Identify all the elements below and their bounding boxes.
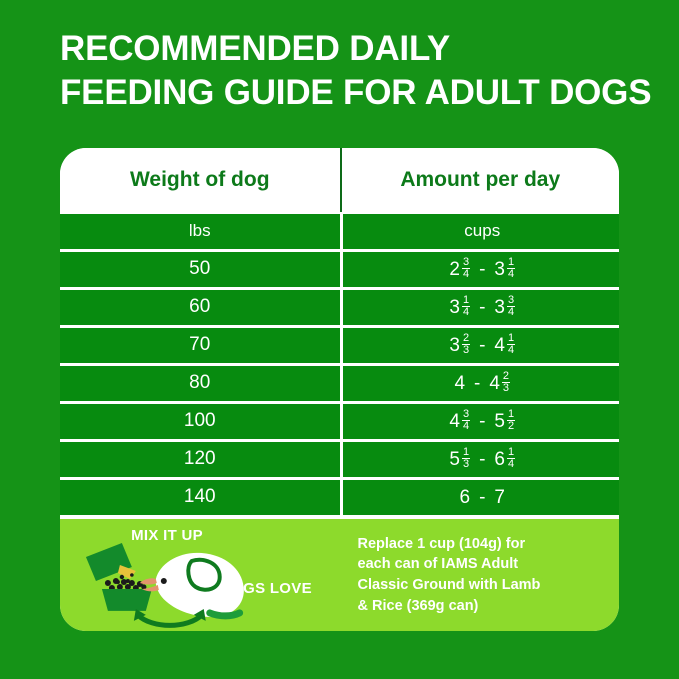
amount-cell: 3 1 4 - 3 3 4: [343, 290, 620, 325]
page-title: RECOMMENDED DAILY FEEDING GUIDE FOR ADUL…: [60, 27, 670, 116]
weight-cell: 50: [60, 252, 340, 287]
mix-arrows-icon: [138, 615, 202, 625]
amount-cell: 3 2 3 - 4 1 4: [343, 328, 620, 363]
unit-cell-amount: cups: [343, 214, 620, 249]
mix-it-up-line-1: MIX IT: [131, 527, 177, 544]
amount-high-fraction: 1 4: [507, 447, 515, 470]
amount-low-whole: 6: [460, 488, 471, 507]
footer-section: MIX IT UP DOGS LOVE IT Replace 1 cup (10…: [60, 516, 619, 631]
range-dash: -: [474, 412, 490, 431]
amount-high-fraction: 1 2: [507, 409, 515, 432]
weight-cell: 70: [60, 328, 340, 363]
amount-high-fraction: 2 3: [502, 371, 510, 394]
table-header-amount: Amount per day: [340, 148, 620, 212]
range-dash: -: [474, 260, 490, 279]
weight-cell: 140: [60, 480, 340, 515]
weight-cell: 80: [60, 366, 340, 401]
replace-note-line-3: Classic Ground with Lamb: [358, 575, 541, 596]
range-dash: -: [474, 488, 490, 507]
replace-note-line-2: each can of IAMS Adult: [358, 554, 541, 575]
dogs-love-it-label: DOGS LOVE IT: [220, 581, 330, 615]
amount-low-whole: 3: [449, 336, 460, 355]
amount-cell: 5 1 3 - 6 1 4: [343, 442, 620, 477]
amount-low-whole: 5: [449, 450, 460, 469]
amount-high-whole: 3: [494, 260, 505, 279]
feeding-table-panel: Weight of dog Amount per day lbs cups 50…: [60, 148, 619, 631]
table-row: 80 4 - 4 2 3: [60, 364, 619, 402]
unit-cell-weight: lbs: [60, 214, 340, 249]
amount-low-fraction: 1 3: [462, 447, 470, 470]
dogs-love-it-line-1: DOGS: [220, 580, 265, 597]
amount-low-fraction: 3 4: [462, 409, 470, 432]
table-row: 50 2 3 4 - 3: [60, 250, 619, 288]
range-dash: -: [474, 450, 490, 469]
mix-it-up-label: MIX IT UP: [124, 528, 210, 545]
footer-note-container: Replace 1 cup (104g) for each can of IAM…: [340, 519, 620, 631]
table-row: 120 5 1 3 - 6: [60, 440, 619, 478]
amount-high-fraction: 3 4: [507, 295, 515, 318]
replace-note: Replace 1 cup (104g) for each can of IAM…: [358, 534, 541, 616]
mix-it-up-graphic-container: MIX IT UP DOGS LOVE IT: [60, 519, 340, 631]
amount-high-whole: 3: [494, 298, 505, 317]
weight-cell: 100: [60, 404, 340, 439]
amount-cell: 4 3 4 - 5 1 2: [343, 404, 620, 439]
wet-pouch-icon: [86, 543, 136, 581]
range-dash: -: [469, 374, 485, 393]
amount-cell: 2 3 4 - 3 1 4: [343, 252, 620, 287]
amount-low-fraction: 1 4: [462, 295, 470, 318]
replace-note-line-4: & Rice (369g can): [358, 596, 541, 617]
weight-cell: 60: [60, 290, 340, 325]
amount-high-whole: 7: [494, 488, 505, 507]
table-body: lbs cups 50 2 3 4 -: [60, 212, 619, 516]
range-dash: -: [474, 336, 490, 355]
weight-cell: 120: [60, 442, 340, 477]
table-row: lbs cups: [60, 212, 619, 250]
table-row: 140 6 - 7: [60, 478, 619, 516]
amount-low-whole: 2: [449, 260, 460, 279]
amount-high-fraction: 1 4: [507, 257, 515, 280]
amount-low-whole: 4: [449, 412, 460, 431]
table-header-row: Weight of dog Amount per day: [60, 148, 619, 212]
page-title-line-2: FEEDING GUIDE FOR ADULT DOGS: [60, 71, 670, 115]
amount-high-whole: 6: [494, 450, 505, 469]
feeding-guide-page: RECOMMENDED DAILY FEEDING GUIDE FOR ADUL…: [0, 0, 679, 679]
table-row: 70 3 2 3 - 4: [60, 326, 619, 364]
replace-note-line-1: Replace 1 cup (104g) for: [358, 534, 541, 555]
amount-cell: 6 - 7: [343, 480, 620, 515]
amount-high-whole: 4: [489, 374, 500, 393]
amount-low-whole: 4: [454, 374, 465, 393]
table-row: 100 4 3 4 - 5: [60, 402, 619, 440]
amount-low-fraction: 3 4: [462, 257, 470, 280]
table-header-weight: Weight of dog: [60, 148, 340, 212]
amount-low-fraction: 2 3: [462, 333, 470, 356]
amount-high-whole: 5: [494, 412, 505, 431]
page-title-line-1: RECOMMENDED DAILY: [60, 27, 670, 71]
amount-high-whole: 4: [494, 336, 505, 355]
range-dash: -: [474, 298, 490, 317]
amount-low-whole: 3: [449, 298, 460, 317]
mix-it-up-line-2: UP: [182, 527, 203, 544]
table-row: 60 3 1 4 - 3: [60, 288, 619, 326]
amount-high-fraction: 1 4: [507, 333, 515, 356]
amount-cell: 4 - 4 2 3: [343, 366, 620, 401]
